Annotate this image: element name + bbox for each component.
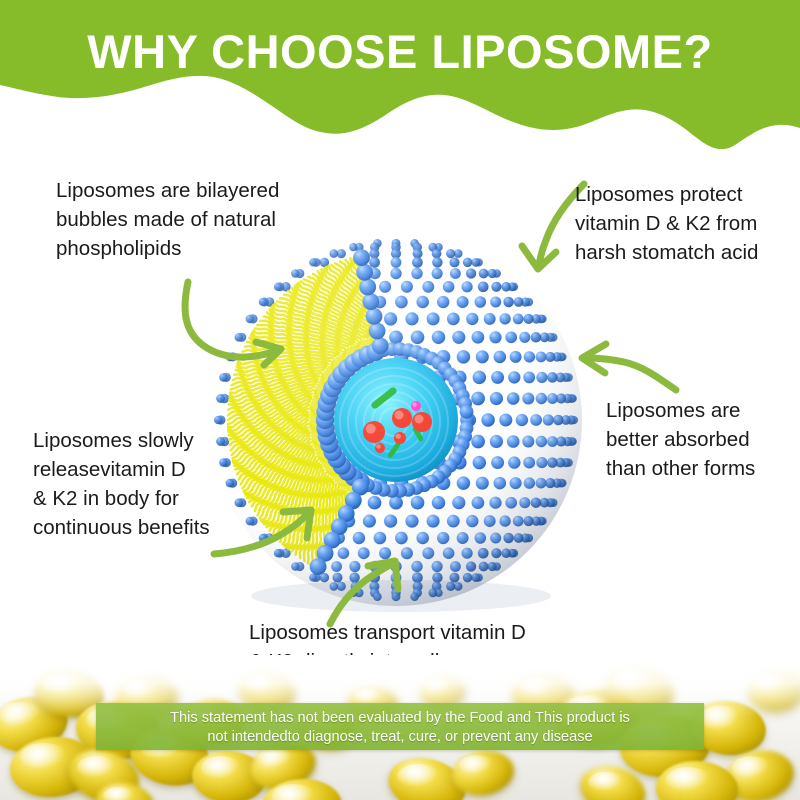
callout-right: Liposomes are better absorbed than other… [606, 396, 800, 483]
capsule-highlight [732, 756, 771, 779]
capsule-highlight [201, 756, 242, 779]
capsule-highlight [666, 767, 711, 792]
callout-top-left: Liposomes are bilayered bubbles made of … [56, 176, 356, 263]
capsule-highlight [397, 764, 440, 787]
liposome-diagram [196, 228, 596, 618]
callout-left: Liposomes slowly releasevitamin D & K2 i… [33, 426, 283, 542]
page-title: WHY CHOOSE LIPOSOME? [0, 24, 800, 79]
capsule-highlight [272, 784, 316, 800]
capsule-highlight [20, 743, 67, 770]
disclaimer-banner: This statement has not been evaluated by… [96, 703, 704, 750]
callout-top-right: Liposomes protect vitamin D & K2 from ha… [575, 180, 800, 267]
capsule-highlight [103, 787, 135, 800]
infographic-poster: WHY CHOOSE LIPOSOME? [0, 0, 800, 800]
disclaimer-text: This statement has not been evaluated by… [96, 709, 704, 746]
capsule-highlight [459, 755, 493, 775]
capsule-highlight [77, 756, 117, 779]
header-banner: WHY CHOOSE LIPOSOME? [0, 0, 800, 150]
